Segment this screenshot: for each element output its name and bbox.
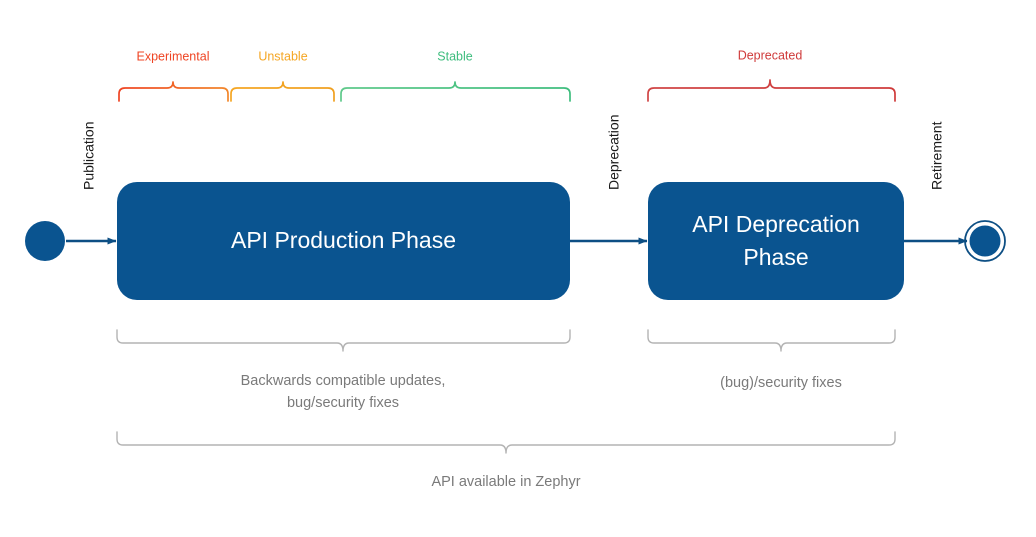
stage-label-stable: Stable	[437, 49, 472, 63]
production-phase-box[interactable]: API Production Phase	[117, 182, 570, 300]
production-note-line2: bug/security fixes	[287, 395, 399, 411]
lifecycle-note-brace	[117, 432, 895, 453]
stage-label-unstable: Unstable	[258, 49, 307, 63]
deprecation-note-brace	[648, 330, 895, 351]
deprecation-phase-box[interactable]: API Deprecation Phase	[648, 182, 904, 300]
experimental-brace	[119, 82, 228, 101]
deprecation-note-line1: (bug)/security fixes	[720, 375, 842, 391]
unstable-brace	[231, 82, 334, 101]
start-node[interactable]	[25, 221, 65, 261]
transition-label-deprecation: Deprecation	[606, 115, 622, 191]
note-brace-group	[117, 330, 895, 453]
transition-label-group: Publication Deprecation Retirement	[81, 115, 945, 191]
lifecycle-note-line1: API available in Zephyr	[431, 474, 580, 490]
production-note-brace	[117, 330, 570, 351]
production-phase-label: API Production Phase	[231, 227, 456, 253]
end-node[interactable]	[970, 226, 1001, 257]
deprecation-phase-label-line2: Phase	[743, 244, 808, 270]
stage-label-experimental: Experimental	[137, 49, 210, 63]
note-label-group: Backwards compatible updates, bug/securi…	[241, 373, 842, 490]
stage-label-group: Experimental Unstable Stable Deprecated	[137, 48, 803, 63]
stable-brace	[341, 82, 570, 101]
deprecation-phase-label-line1: API Deprecation	[692, 211, 859, 237]
diagram-canvas: Experimental Unstable Stable Deprecated …	[0, 0, 1036, 537]
api-lifecycle-diagram: Experimental Unstable Stable Deprecated …	[0, 0, 1036, 537]
production-note-line1: Backwards compatible updates,	[241, 373, 446, 389]
transition-label-retirement: Retirement	[929, 121, 945, 190]
stage-label-deprecated: Deprecated	[738, 48, 803, 62]
transition-label-publication: Publication	[81, 122, 97, 191]
deprecation-phase-rect[interactable]	[648, 182, 904, 300]
stage-brace-group	[119, 80, 895, 101]
deprecated-brace	[648, 80, 895, 101]
